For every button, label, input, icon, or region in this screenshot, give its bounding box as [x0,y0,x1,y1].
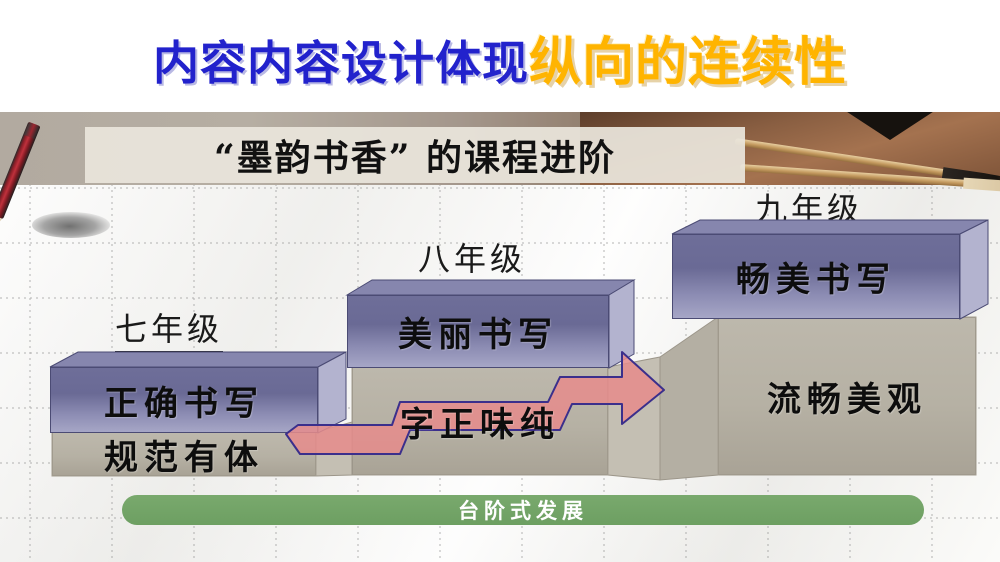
page-title-part-accent: 纵向的连续性 [529,26,847,100]
subtitle-text: “墨韵书香” 的课程进阶 [214,129,616,181]
step-lower-label-9: 流畅美观 [767,372,927,421]
ink-blot-icon [32,212,110,238]
slide-content-area: “墨韵书香” 的课程进阶 七年级 八年级 九年级 流畅美观 畅美书写 [0,112,1000,562]
subtitle-banner: “墨韵书香” 的课程进阶 [85,127,745,183]
grade-label-8: 八年级 [418,234,526,280]
grade-label-7: 七年级 [115,304,223,353]
step-lower-slab-7: 规范有体 [52,432,316,476]
step-upper-label-7: 正确书写 [104,376,264,425]
step-upper-slab-9: 畅美书写 [672,234,960,319]
grade-label-9: 九年级 [755,184,863,230]
footer-banner-label: 台阶式发展 [458,495,588,525]
page-title: 内容内容设计体现纵向的连续性 [0,26,1000,100]
step-lower-label-8: 字正味纯 [400,397,560,446]
step-lower-label-7: 规范有体 [104,430,264,479]
footer-progress-banner: 台阶式发展 [122,495,924,525]
step-upper-slab-7: 正确书写 [50,367,318,433]
ink-stone-wedge [838,112,942,140]
step-upper-label-8: 美丽书写 [398,307,558,356]
step-upper-slab-8: 美丽书写 [347,295,609,368]
slide-root: 内容内容设计体现纵向的连续性 [0,0,1000,562]
step-lower-slab-9: 流畅美观 [718,317,976,475]
step-lower-slab-8: 字正味纯 [352,367,608,475]
step-upper-label-9: 畅美书写 [736,252,896,301]
page-title-part-primary: 内容内容设计体现 [153,26,529,100]
